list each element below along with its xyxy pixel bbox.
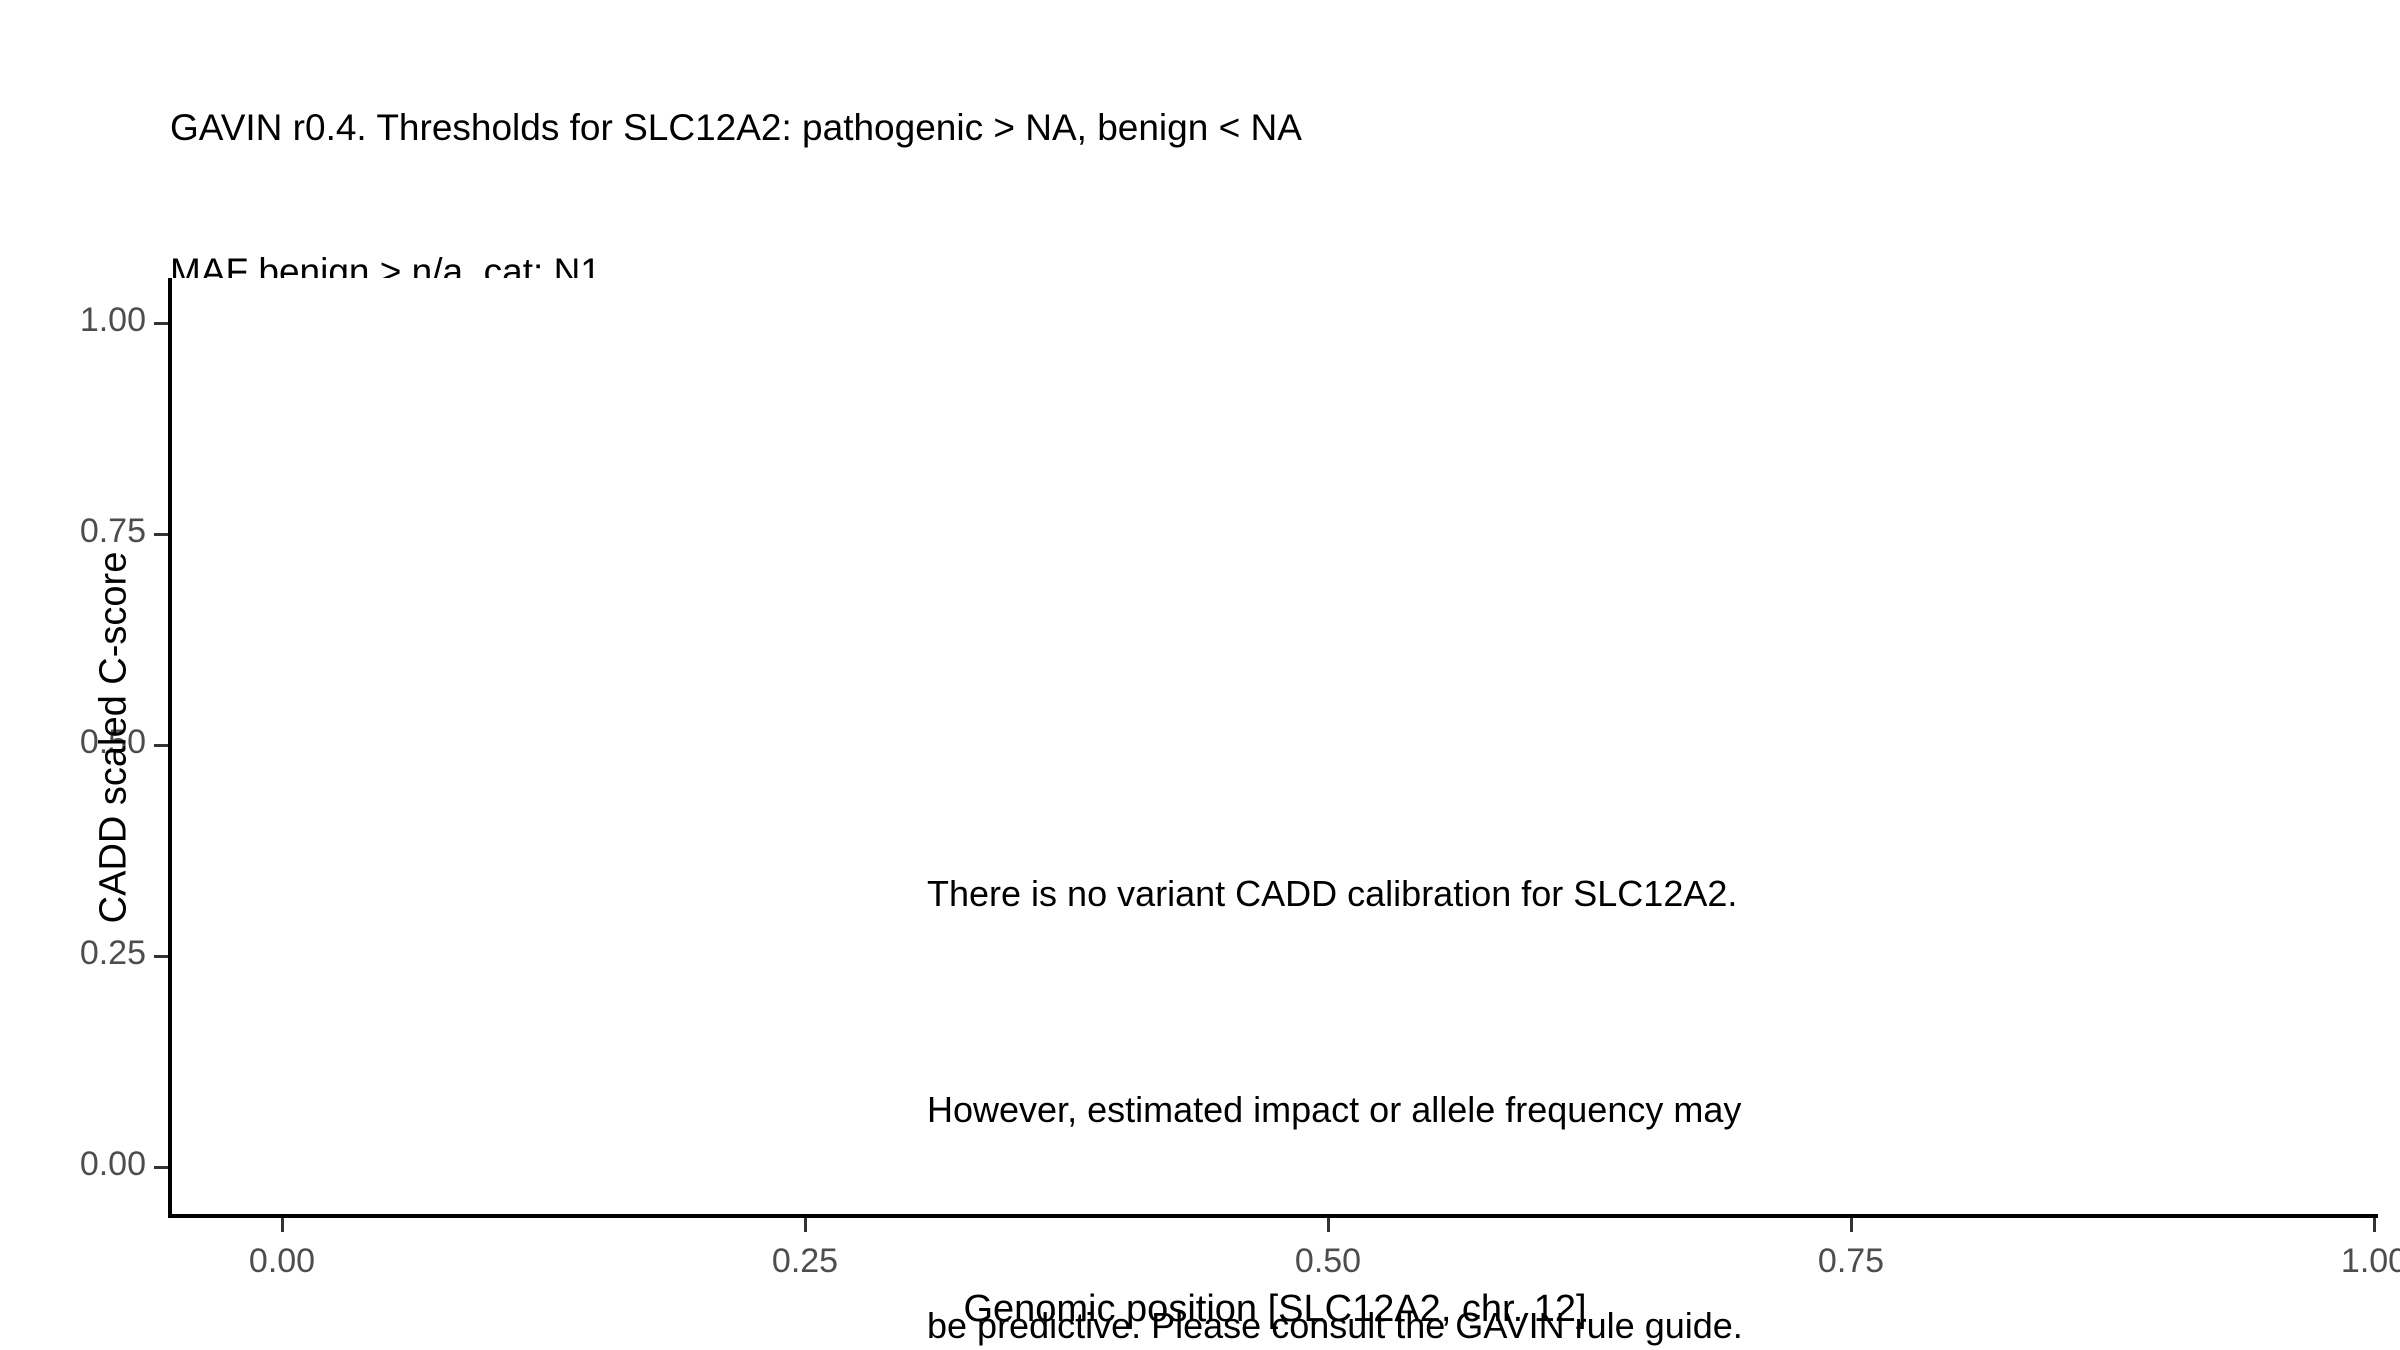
x-tick-label-2: 0.50 — [1228, 1242, 1428, 1281]
title-line-1: GAVIN r0.4. Thresholds for SLC12A2: path… — [170, 104, 2350, 152]
annotation-line-1: There is no variant CADD calibration for… — [927, 858, 1743, 930]
chart-page: GAVIN r0.4. Thresholds for SLC12A2: path… — [0, 0, 2400, 1350]
y-tick-mark-1 — [154, 955, 168, 958]
annotation-line-2: However, estimated impact or allele freq… — [927, 1074, 1743, 1146]
x-tick-mark-1 — [804, 1218, 807, 1232]
x-tick-label-1: 0.25 — [705, 1242, 905, 1281]
y-tick-mark-4 — [154, 322, 168, 325]
x-axis-title: Genomic position [SLC12A2, chr. 12] — [172, 1288, 2378, 1331]
x-tick-mark-3 — [1850, 1218, 1853, 1232]
y-tick-mark-2 — [154, 744, 168, 747]
y-tick-mark-3 — [154, 533, 168, 536]
x-tick-label-3: 0.75 — [1751, 1242, 1951, 1281]
x-tick-mark-2 — [1327, 1218, 1330, 1232]
x-tick-mark-4 — [2373, 1218, 2376, 1232]
y-axis-title: CADD scaled C-score — [93, 268, 136, 1208]
x-tick-label-4: 1.00 — [2274, 1242, 2400, 1281]
y-axis-line — [168, 278, 172, 1218]
x-tick-mark-0 — [281, 1218, 284, 1232]
x-tick-label-0: 0.00 — [182, 1242, 382, 1281]
plot-panel: There is no variant CADD calibration for… — [172, 278, 2378, 1215]
y-tick-mark-0 — [154, 1166, 168, 1169]
x-axis-line — [168, 1214, 2378, 1218]
